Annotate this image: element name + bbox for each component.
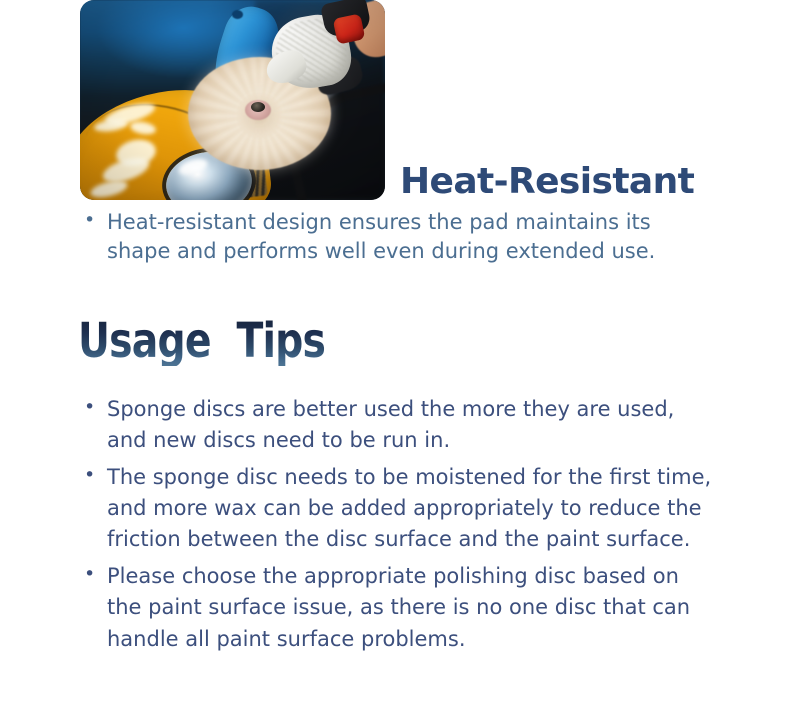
usage-tips-heading: Usage Tips (78, 316, 325, 366)
feature-bullet-list: Heat-resistant design ensures the pad ma… (80, 208, 700, 268)
polishing-photo (80, 0, 385, 200)
feature-row: Heat-Resistant (0, 0, 790, 205)
list-item: Heat-resistant design ensures the pad ma… (80, 208, 700, 266)
photo-pad-bolt (251, 102, 265, 112)
feature-title: Heat-Resistant (400, 164, 694, 200)
list-item: Please choose the appropriate polishing … (80, 561, 720, 654)
list-item: Sponge discs are better used the more th… (80, 394, 720, 456)
usage-tips-bullet-list: Sponge discs are better used the more th… (80, 394, 720, 661)
product-info-page: Heat-Resistant Heat-resistant design ens… (0, 0, 790, 722)
list-item: The sponge disc needs to be moistened fo… (80, 462, 720, 555)
photo-polisher-knob (232, 10, 243, 19)
